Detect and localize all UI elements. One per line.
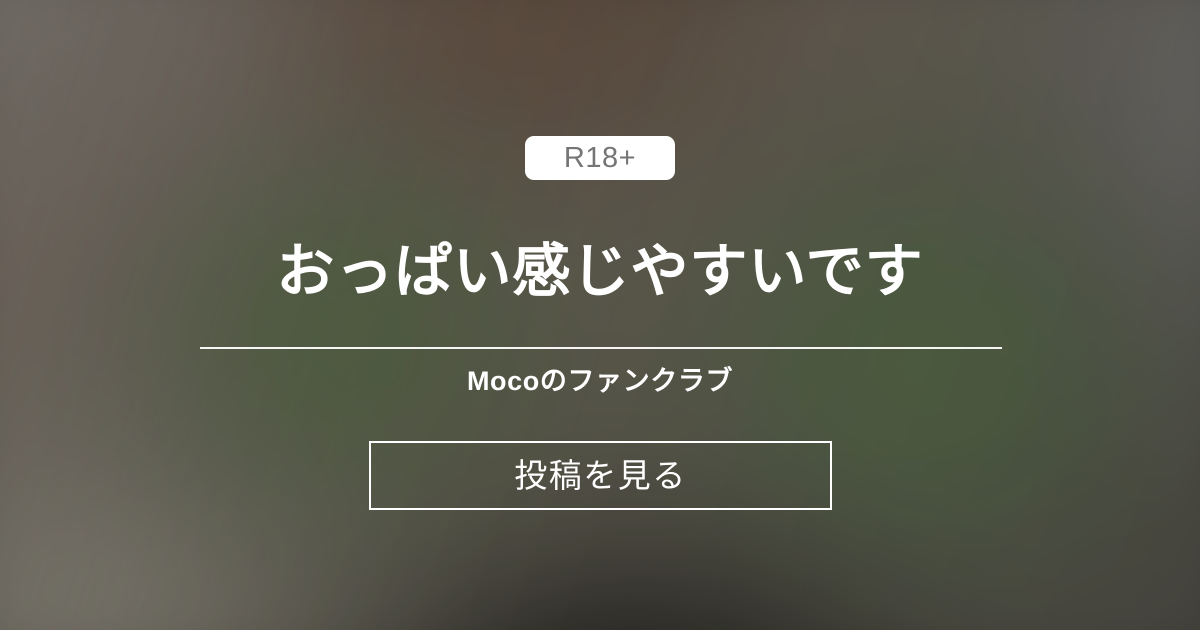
card-content: R18+ おっぱい感じやすいです Mocoのファンクラブ 投稿を見る xyxy=(0,0,1200,630)
view-posts-button[interactable]: 投稿を見る xyxy=(369,441,832,510)
age-rating-badge: R18+ xyxy=(525,136,675,180)
divider xyxy=(200,347,1002,349)
fanclub-og-card: R18+ おっぱい感じやすいです Mocoのファンクラブ 投稿を見る xyxy=(0,0,1200,630)
fanclub-subtitle: Mocoのファンクラブ xyxy=(0,364,1200,399)
page-title: おっぱい感じやすいです xyxy=(0,237,1200,308)
